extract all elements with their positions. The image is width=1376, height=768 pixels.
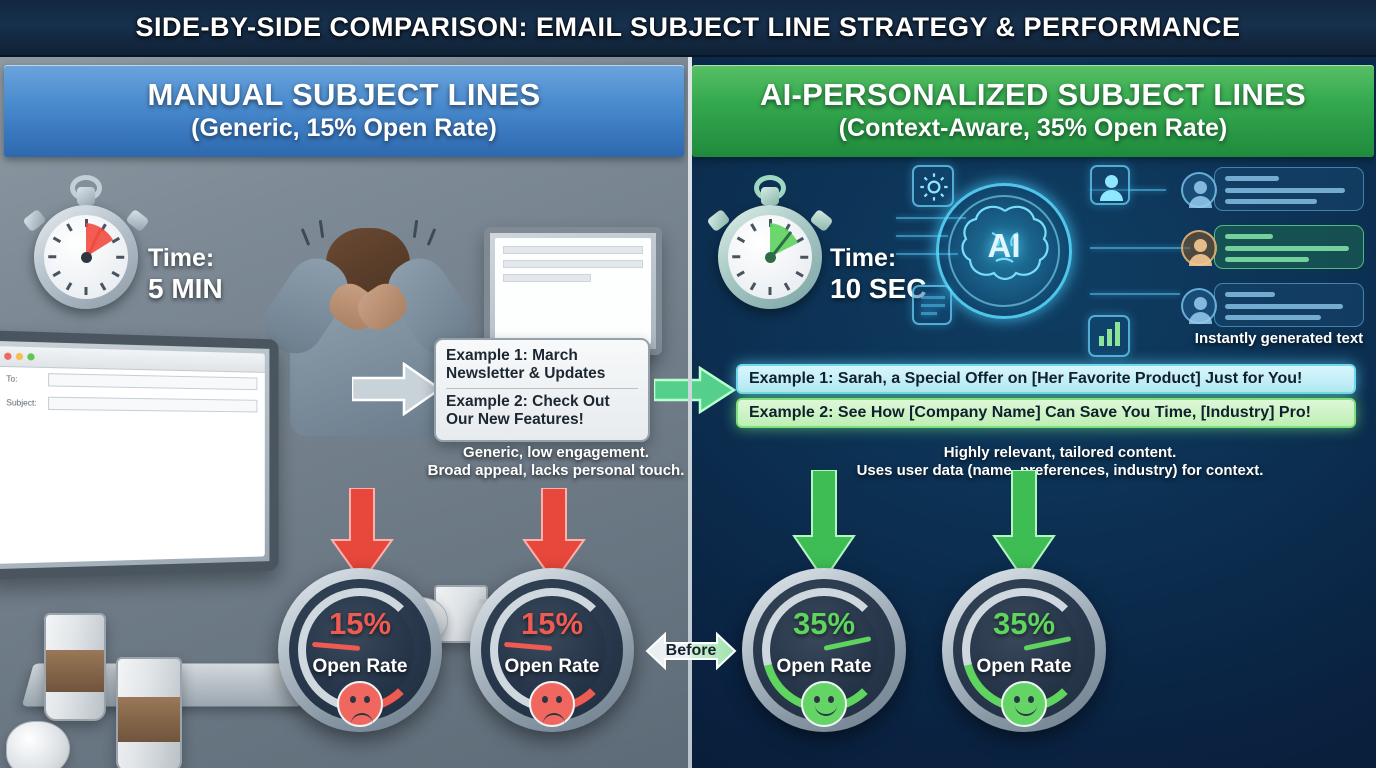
ai-caption-line2: Uses user data (name, preferences, indus… bbox=[840, 462, 1280, 480]
ai-gauge-1-label: Open Rate bbox=[742, 656, 906, 678]
avatar bbox=[1181, 288, 1217, 324]
page-title-bar: SIDE-BY-SIDE COMPARISON: EMAIL SUBJECT L… bbox=[0, 0, 1376, 57]
coffee-cup-2 bbox=[116, 657, 182, 768]
ai-caption: Highly relevant, tailored content. Uses … bbox=[840, 444, 1280, 480]
message-card-3 bbox=[1214, 283, 1364, 327]
compose-subject-input[interactable] bbox=[48, 397, 257, 413]
manual-examples-box: Example 1: March Newsletter & Updates Ex… bbox=[434, 338, 650, 442]
coffee-cup-1 bbox=[44, 613, 106, 721]
compose-subject-row: Subject: bbox=[0, 391, 265, 418]
manual-time-label: Time: 5 MIN bbox=[148, 245, 223, 305]
ai-header-title: AI-PERSONALIZED SUBJECT LINES bbox=[760, 79, 1306, 112]
page-title: SIDE-BY-SIDE COMPARISON: EMAIL SUBJECT L… bbox=[135, 12, 1240, 43]
user-icon-chip bbox=[1090, 165, 1130, 205]
ai-gauge-1-value: 35% bbox=[742, 606, 906, 642]
infographic-root: SIDE-BY-SIDE COMPARISON: EMAIL SUBJECT L… bbox=[0, 0, 1376, 768]
ai-stopwatch-icon bbox=[718, 205, 822, 309]
manual-caption-line1: Generic, low engagement. bbox=[420, 444, 692, 462]
window-close-dot[interactable] bbox=[4, 353, 11, 360]
message-card-1 bbox=[1214, 167, 1364, 211]
manual-example-1: Example 1: March Newsletter & Updates bbox=[446, 347, 638, 383]
manual-header-subtitle: (Generic, 15% Open Rate) bbox=[191, 114, 497, 143]
ai-panel-header: AI-PERSONALIZED SUBJECT LINES (Context-A… bbox=[692, 65, 1374, 157]
compose-to-input[interactable] bbox=[48, 373, 257, 390]
manual-example-2: Example 2: Check Out Our New Features! bbox=[446, 393, 638, 429]
manual-gauge-1: 15% Open Rate bbox=[278, 568, 442, 732]
manual-gauge-2-value: 15% bbox=[470, 606, 634, 642]
bar-chart-icon-chip bbox=[1088, 315, 1130, 357]
instant-note: Instantly generated text bbox=[1164, 330, 1376, 348]
happy-face-icon bbox=[801, 681, 847, 727]
ai-down-arrow-1 bbox=[790, 470, 858, 582]
compose-subject-label: Subject: bbox=[6, 398, 42, 408]
ai-flow-arrow bbox=[654, 366, 736, 414]
ai-down-arrow-2 bbox=[990, 470, 1058, 582]
avatar bbox=[1181, 230, 1217, 266]
manual-gauge-2-label: Open Rate bbox=[470, 656, 634, 678]
before-comparison-arrow: Before bbox=[645, 628, 737, 674]
sad-face-icon bbox=[337, 681, 383, 727]
ai-example-2: Example 2: See How [Company Name] Can Sa… bbox=[736, 398, 1356, 428]
manual-gauge-1-value: 15% bbox=[278, 606, 442, 642]
ai-gauge-1: 35% Open Rate bbox=[742, 568, 906, 732]
secondary-monitor-illustration bbox=[484, 227, 662, 355]
manual-stopwatch-icon bbox=[34, 205, 138, 309]
avatar bbox=[1181, 172, 1217, 208]
ai-brain-label: AI bbox=[936, 227, 1072, 265]
ai-gauge-2-value: 35% bbox=[942, 606, 1106, 642]
message-card-2 bbox=[1214, 225, 1364, 269]
instant-note-text: Instantly generated text bbox=[1164, 330, 1376, 348]
manual-caption: Generic, low engagement. Broad appeal, l… bbox=[420, 444, 692, 480]
manual-time-caption: Time: bbox=[148, 245, 223, 273]
happy-face-icon bbox=[1001, 681, 1047, 727]
manual-gauge-2: 15% Open Rate bbox=[470, 568, 634, 732]
crumpled-paper-1 bbox=[6, 721, 70, 768]
manual-flow-arrow bbox=[352, 362, 442, 416]
before-label: Before bbox=[645, 628, 737, 674]
manual-gauge-1-label: Open Rate bbox=[278, 656, 442, 678]
window-minimize-dot[interactable] bbox=[16, 353, 23, 360]
manual-time-value: 5 MIN bbox=[148, 273, 223, 305]
ai-example-1: Example 1: Sarah, a Special Offer on [He… bbox=[736, 364, 1356, 394]
sad-face-icon bbox=[529, 681, 575, 727]
manual-header-title: MANUAL SUBJECT LINES bbox=[148, 79, 541, 112]
window-maximize-dot[interactable] bbox=[27, 353, 34, 360]
compose-to-label: To: bbox=[6, 374, 42, 384]
manual-caption-line2: Broad appeal, lacks personal touch. bbox=[420, 462, 692, 480]
email-compose-monitor: To: Subject: bbox=[0, 330, 279, 580]
ai-header-subtitle: (Context-Aware, 35% Open Rate) bbox=[839, 114, 1228, 143]
ai-gauge-2: 35% Open Rate bbox=[942, 568, 1106, 732]
circuit-line-5 bbox=[1090, 247, 1190, 249]
circuit-line-6 bbox=[1090, 293, 1180, 295]
manual-panel-header: MANUAL SUBJECT LINES (Generic, 15% Open … bbox=[4, 65, 684, 157]
ai-gauge-2-label: Open Rate bbox=[942, 656, 1106, 678]
ai-caption-line1: Highly relevant, tailored content. bbox=[840, 444, 1280, 462]
ai-brain-icon: AI bbox=[910, 165, 1100, 340]
